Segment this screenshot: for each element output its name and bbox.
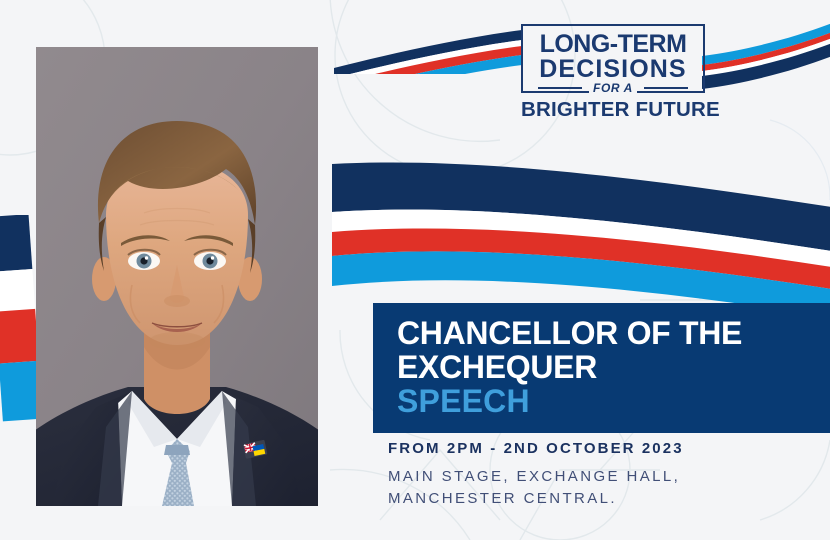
tricolour-ribbon-right [690, 10, 830, 95]
tricolour-ribbon-top [330, 0, 525, 79]
logo-connector-for-a: FOR A [589, 81, 637, 95]
venue-line-1: MAIN STAGE, EXCHANGE HALL, [388, 466, 684, 489]
chancellor-portrait-photo [36, 47, 318, 506]
title-line-2: EXCHEQUER [397, 351, 830, 385]
title-accent-speech: SPEECH [397, 384, 830, 420]
logo-connector-row: FOR A [521, 81, 705, 95]
title-panel: CHANCELLOR OF THE EXCHEQUER SPEECH [373, 303, 830, 433]
event-details: FROM 2PM - 2ND OCTOBER 2023 MAIN STAGE, … [388, 441, 684, 511]
event-venue: MAIN STAGE, EXCHANGE HALL, MANCHESTER CE… [388, 466, 684, 511]
logo-rule-left [538, 87, 582, 89]
portrait-frame [36, 47, 318, 506]
campaign-logo: LONG-TERM DECISIONS FOR A BRIGHTER FUTUR… [521, 24, 705, 122]
logo-line-decisions: DECISIONS [533, 57, 693, 83]
logo-rule-right [644, 87, 688, 89]
tricolour-ribbon-middle [318, 150, 830, 315]
event-date-time: FROM 2PM - 2ND OCTOBER 2023 [388, 441, 684, 458]
logo-line-brighter-future: BRIGHTER FUTURE [521, 98, 705, 122]
event-poster: LONG-TERM DECISIONS FOR A BRIGHTER FUTUR… [0, 0, 830, 540]
title-line-1: CHANCELLOR OF THE [397, 317, 830, 351]
venue-line-2: MANCHESTER CENTRAL. [388, 488, 684, 511]
logo-line-long-term: LONG-TERM [533, 32, 693, 57]
